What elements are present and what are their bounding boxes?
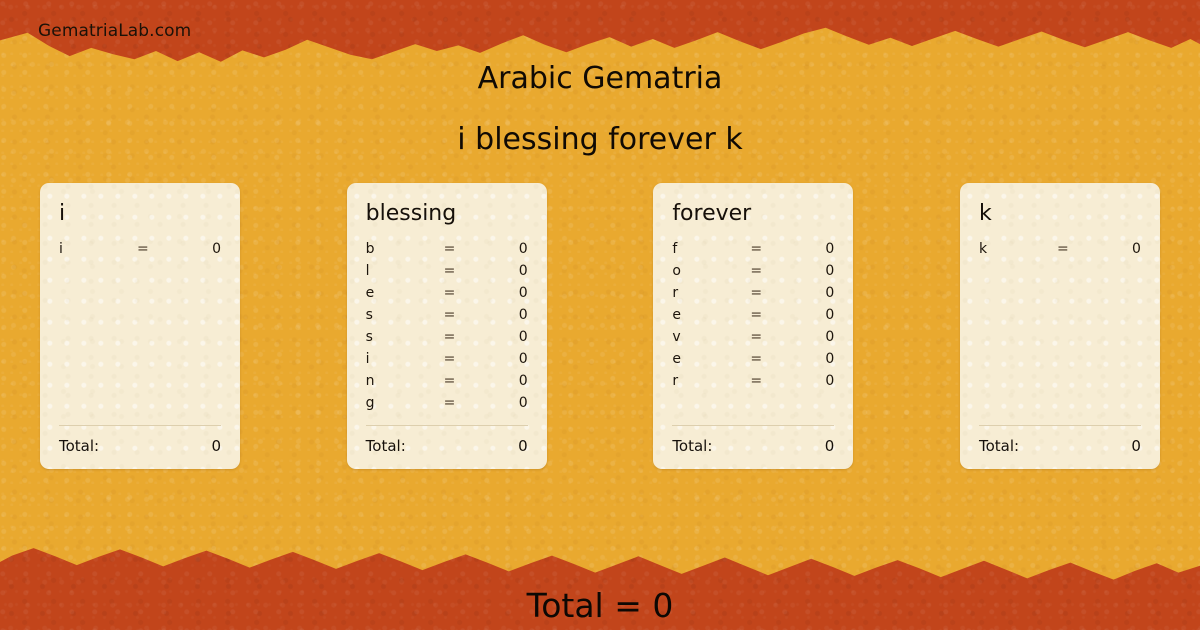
equals-sign: = bbox=[444, 307, 488, 323]
letter-label: r bbox=[672, 285, 750, 301]
letter-label: g bbox=[366, 395, 444, 411]
equals-sign: = bbox=[750, 285, 794, 301]
letter-value: 0 bbox=[488, 285, 528, 301]
letter-value: 0 bbox=[794, 351, 834, 367]
equals-sign: = bbox=[750, 241, 794, 257]
letter-label: i bbox=[59, 241, 137, 257]
letter-value: 0 bbox=[181, 241, 221, 257]
equals-sign: = bbox=[137, 241, 181, 257]
letter-label: e bbox=[672, 351, 750, 367]
word-card: blessingb=0l=0e=0s=0s=0i=0n=0g=0Total:0 bbox=[347, 183, 547, 469]
letter-row: l=0 bbox=[366, 263, 528, 285]
letter-value: 0 bbox=[488, 395, 528, 411]
phrase-heading: i blessing forever k bbox=[0, 122, 1200, 157]
poster-canvas: GematriaLab.com Arabic Gematria i blessi… bbox=[0, 0, 1200, 630]
card-word-title: forever bbox=[672, 202, 834, 225]
letter-row: g=0 bbox=[366, 395, 528, 417]
equals-sign: = bbox=[444, 373, 488, 389]
letter-value: 0 bbox=[794, 263, 834, 279]
letter-row: s=0 bbox=[366, 329, 528, 351]
letter-row: i=0 bbox=[366, 351, 528, 373]
letter-value: 0 bbox=[488, 329, 528, 345]
letter-label: f bbox=[672, 241, 750, 257]
letter-row: s=0 bbox=[366, 307, 528, 329]
card-word-title: blessing bbox=[366, 202, 528, 225]
letter-row: v=0 bbox=[672, 329, 834, 351]
card-total-value: 0 bbox=[1131, 437, 1141, 455]
letter-label: n bbox=[366, 373, 444, 389]
letter-row: k=0 bbox=[979, 241, 1141, 263]
letter-row: f=0 bbox=[672, 241, 834, 263]
letter-label: r bbox=[672, 373, 750, 389]
letter-value: 0 bbox=[794, 285, 834, 301]
letter-label: i bbox=[366, 351, 444, 367]
letter-rows: i=0 bbox=[59, 241, 221, 419]
letter-row: e=0 bbox=[672, 351, 834, 373]
letter-rows: f=0o=0r=0e=0v=0e=0r=0 bbox=[672, 241, 834, 419]
equals-sign: = bbox=[750, 373, 794, 389]
card-total-label: Total: bbox=[59, 437, 211, 455]
word-card: ii=0Total:0 bbox=[40, 183, 240, 469]
word-card-list: ii=0Total:0blessingb=0l=0e=0s=0s=0i=0n=0… bbox=[40, 183, 1160, 469]
card-total-row: Total:0 bbox=[979, 426, 1141, 455]
letter-value: 0 bbox=[488, 351, 528, 367]
letter-value: 0 bbox=[794, 307, 834, 323]
equals-sign: = bbox=[444, 395, 488, 411]
equals-sign: = bbox=[444, 241, 488, 257]
letter-label: v bbox=[672, 329, 750, 345]
letter-row: i=0 bbox=[59, 241, 221, 263]
equals-sign: = bbox=[750, 329, 794, 345]
card-total-label: Total: bbox=[672, 437, 824, 455]
letter-value: 0 bbox=[794, 373, 834, 389]
letter-label: k bbox=[979, 241, 1057, 257]
page-title: Arabic Gematria bbox=[0, 61, 1200, 96]
letter-row: e=0 bbox=[672, 307, 834, 329]
letter-row: b=0 bbox=[366, 241, 528, 263]
equals-sign: = bbox=[444, 263, 488, 279]
letter-label: l bbox=[366, 263, 444, 279]
letter-row: o=0 bbox=[672, 263, 834, 285]
card-total-row: Total:0 bbox=[59, 426, 221, 455]
letter-row: r=0 bbox=[672, 285, 834, 307]
card-total-row: Total:0 bbox=[672, 426, 834, 455]
card-total-row: Total:0 bbox=[366, 426, 528, 455]
letter-value: 0 bbox=[794, 241, 834, 257]
letter-value: 0 bbox=[488, 373, 528, 389]
equals-sign: = bbox=[444, 351, 488, 367]
letter-label: e bbox=[672, 307, 750, 323]
word-card: kk=0Total:0 bbox=[960, 183, 1160, 469]
letter-label: o bbox=[672, 263, 750, 279]
letter-value: 0 bbox=[488, 307, 528, 323]
equals-sign: = bbox=[1057, 241, 1101, 257]
letter-row: n=0 bbox=[366, 373, 528, 395]
card-word-title: k bbox=[979, 202, 1141, 225]
letter-label: s bbox=[366, 307, 444, 323]
card-total-label: Total: bbox=[979, 437, 1131, 455]
card-total-value: 0 bbox=[518, 437, 528, 455]
card-total-label: Total: bbox=[366, 437, 518, 455]
equals-sign: = bbox=[444, 329, 488, 345]
letter-label: b bbox=[366, 241, 444, 257]
word-card: foreverf=0o=0r=0e=0v=0e=0r=0Total:0 bbox=[653, 183, 853, 469]
equals-sign: = bbox=[750, 307, 794, 323]
letter-rows: k=0 bbox=[979, 241, 1141, 419]
grand-total: Total = 0 bbox=[0, 586, 1200, 625]
letter-row: e=0 bbox=[366, 285, 528, 307]
letter-value: 0 bbox=[794, 329, 834, 345]
letter-label: s bbox=[366, 329, 444, 345]
site-logo: GematriaLab.com bbox=[38, 21, 191, 41]
letter-label: e bbox=[366, 285, 444, 301]
letter-rows: b=0l=0e=0s=0s=0i=0n=0g=0 bbox=[366, 241, 528, 419]
equals-sign: = bbox=[750, 263, 794, 279]
card-total-value: 0 bbox=[211, 437, 221, 455]
card-total-value: 0 bbox=[825, 437, 835, 455]
card-word-title: i bbox=[59, 202, 221, 225]
letter-value: 0 bbox=[1101, 241, 1141, 257]
equals-sign: = bbox=[750, 351, 794, 367]
letter-row: r=0 bbox=[672, 373, 834, 395]
letter-value: 0 bbox=[488, 241, 528, 257]
letter-value: 0 bbox=[488, 263, 528, 279]
equals-sign: = bbox=[444, 285, 488, 301]
